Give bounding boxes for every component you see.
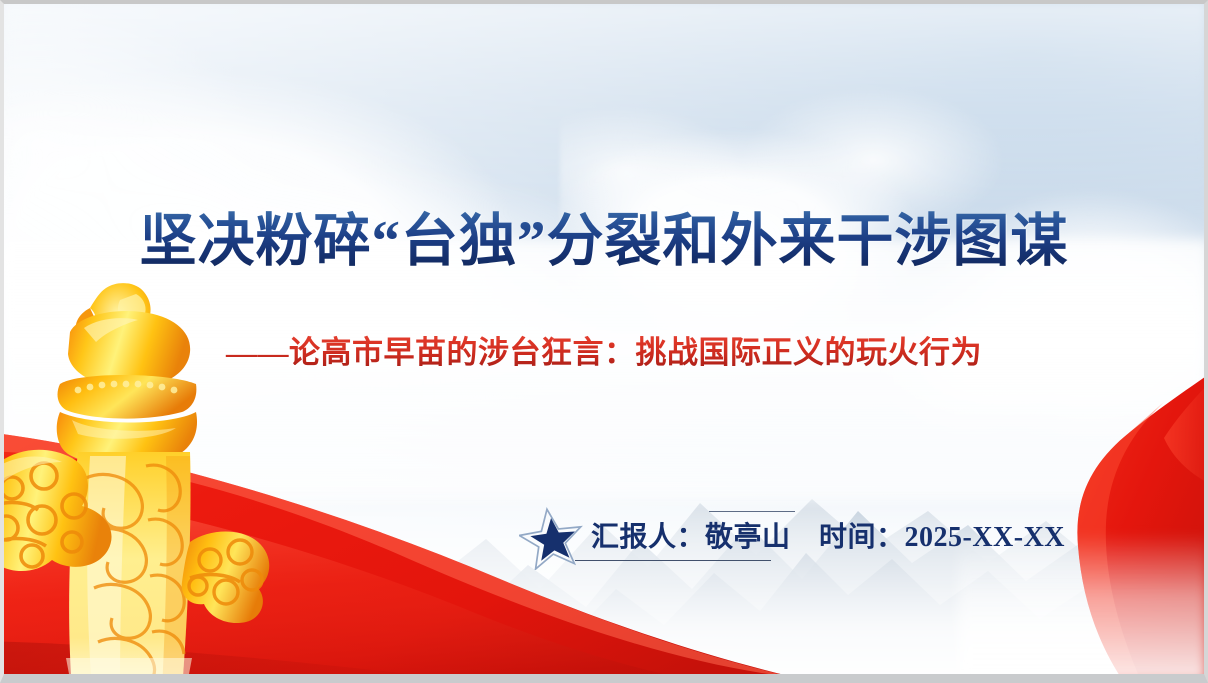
divider-line-top (709, 511, 795, 512)
page-subtitle: ——论高市早苗的涉台狂言：挑战国际正义的玩火行为 (0, 330, 1208, 376)
slide-text-area: 坚决粉碎“台独”分裂和外来干涉图谋 ——论高市早苗的涉台狂言：挑战国际正义的玩火… (0, 0, 1208, 683)
presenter-row: 汇报人：敬亭山 时间：2025-XX-XX (519, 500, 1079, 580)
page-title: 坚决粉碎“台独”分裂和外来干涉图谋 (0, 206, 1208, 278)
presentation-slide: 坚决粉碎“台独”分裂和外来干涉图谋 ——论高市早苗的涉台狂言：挑战国际正义的玩火… (0, 0, 1208, 683)
presenter-and-date-label: 汇报人：敬亭山 时间：2025-XX-XX (591, 516, 1065, 560)
divider-line-bottom (575, 560, 771, 561)
five-pointed-star-icon (519, 506, 583, 570)
